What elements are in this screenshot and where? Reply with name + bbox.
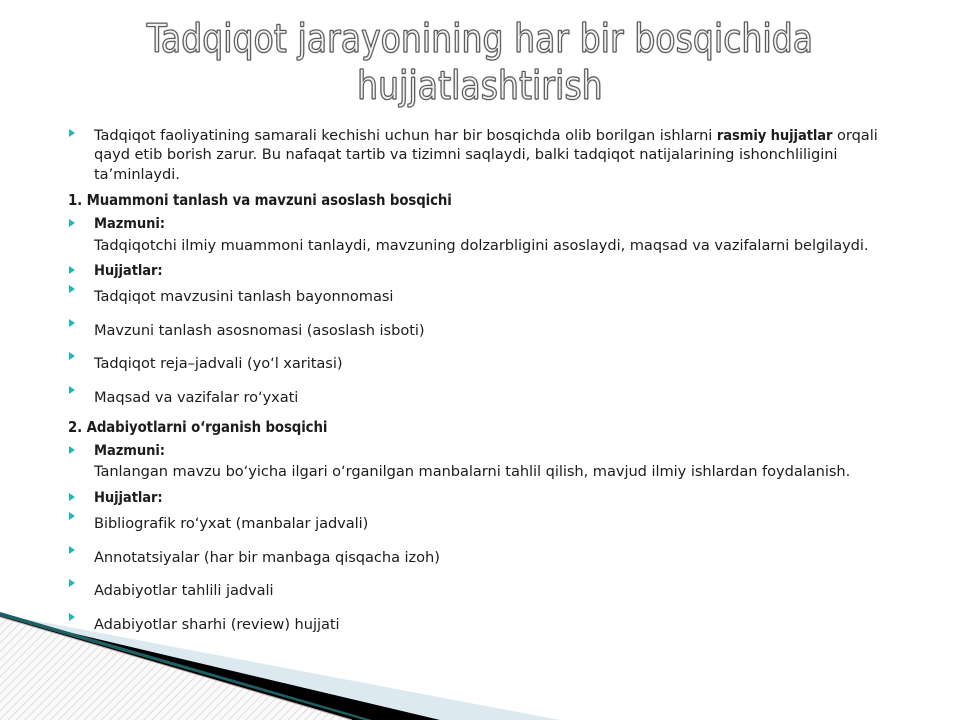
slide-canvas: Tadqiqot jarayonining har bir bosqichida… <box>0 0 960 720</box>
section-heading-2: 2. Adabiyotlarni o‘rganish bosqichi <box>0 414 960 441</box>
section-2-hujjatlar-row: Hujjatlar: <box>0 488 960 507</box>
bullet-triangle-icon <box>69 446 75 454</box>
list-item: Mavzuni tanlash asosnomasi (asoslash isb… <box>0 314 960 347</box>
bullet-triangle-icon <box>69 613 75 621</box>
list-item: Bibliografik ro‘yxat (manbalar jadvali) <box>0 507 960 540</box>
title-line-1: Tadqiqot jarayonining har bir bosqichida <box>89 16 870 63</box>
intro-bullet-row: Tadqiqot faoliyatining samarali kechishi… <box>0 124 960 187</box>
section-2-document-2: Annotatsiyalar (har bir manbaga qisqacha… <box>94 541 902 574</box>
section-2-mazmuni-label: Mazmuni: <box>94 441 902 460</box>
bullet-triangle-icon <box>69 129 75 137</box>
section-1-hujjatlar-row: Hujjatlar: <box>0 261 960 280</box>
section-2-document-4: Adabiyotlar sharhi (review) hujjati <box>94 608 902 641</box>
bullet-triangle-icon <box>69 319 75 327</box>
bullet-triangle-icon <box>69 512 75 520</box>
slide-body: Tadqiqot faoliyatining samarali kechishi… <box>0 124 960 641</box>
section-2-document-3: Adabiyotlar tahlili jadvali <box>94 574 902 607</box>
list-item: Adabiyotlar sharhi (review) hujjati <box>0 608 960 641</box>
section-1-mazmuni-text: Tadqiqotchi ilmiy muammoni tanlaydi, mav… <box>94 234 902 258</box>
section-1-document-1: Tadqiqot mavzusini tanlash bayonnomasi <box>94 280 902 313</box>
list-item: Tadqiqot reja–jadvali (yo‘l xaritasi) <box>0 347 960 380</box>
section-1-mazmuni-row: Mazmuni: Tadqiqotchi ilmiy muammoni tanl… <box>0 214 960 258</box>
bullet-triangle-icon <box>69 219 75 227</box>
section-2-mazmuni-text: Tanlangan mavzu bo‘yicha ilgari o‘rganil… <box>94 460 902 484</box>
intro-emphasis: rasmiy hujjatlar <box>717 127 833 144</box>
section-heading-1: 1. Muammoni tanlash va mavzuni asoslash … <box>0 187 960 214</box>
section-2-hujjatlar-label: Hujjatlar: <box>94 488 902 507</box>
slide-title: Tadqiqot jarayonining har bir bosqichida… <box>60 16 900 110</box>
section-1-mazmuni-label: Mazmuni: <box>94 214 902 233</box>
bullet-triangle-icon <box>69 386 75 394</box>
bullet-triangle-icon <box>69 546 75 554</box>
bullet-triangle-icon <box>69 285 75 293</box>
section-2-document-1: Bibliografik ro‘yxat (manbalar jadvali) <box>94 507 902 540</box>
bullet-triangle-icon <box>69 266 75 274</box>
section-1-hujjatlar-label: Hujjatlar: <box>94 261 902 280</box>
list-item: Tadqiqot mavzusini tanlash bayonnomasi <box>0 280 960 313</box>
title-line-2: hujjatlashtirish <box>89 63 870 110</box>
section-1-document-4: Maqsad va vazifalar ro‘yxati <box>94 381 902 414</box>
section-1-document-2: Mavzuni tanlash asosnomasi (asoslash isb… <box>94 314 902 347</box>
bullet-triangle-icon <box>69 579 75 587</box>
bullet-triangle-icon <box>69 493 75 501</box>
section-2-mazmuni-row: Mazmuni: Tanlangan mavzu bo‘yicha ilgari… <box>0 441 960 485</box>
list-item: Maqsad va vazifalar ro‘yxati <box>0 381 960 414</box>
list-item: Adabiyotlar tahlili jadvali <box>0 574 960 607</box>
intro-text-before: Tadqiqot faoliyatining samarali kechishi… <box>94 127 717 144</box>
intro-paragraph: Tadqiqot faoliyatining samarali kechishi… <box>94 124 902 187</box>
list-item: Annotatsiyalar (har bir manbaga qisqacha… <box>0 541 960 574</box>
bullet-triangle-icon <box>69 352 75 360</box>
section-1-document-3: Tadqiqot reja–jadvali (yo‘l xaritasi) <box>94 347 902 380</box>
